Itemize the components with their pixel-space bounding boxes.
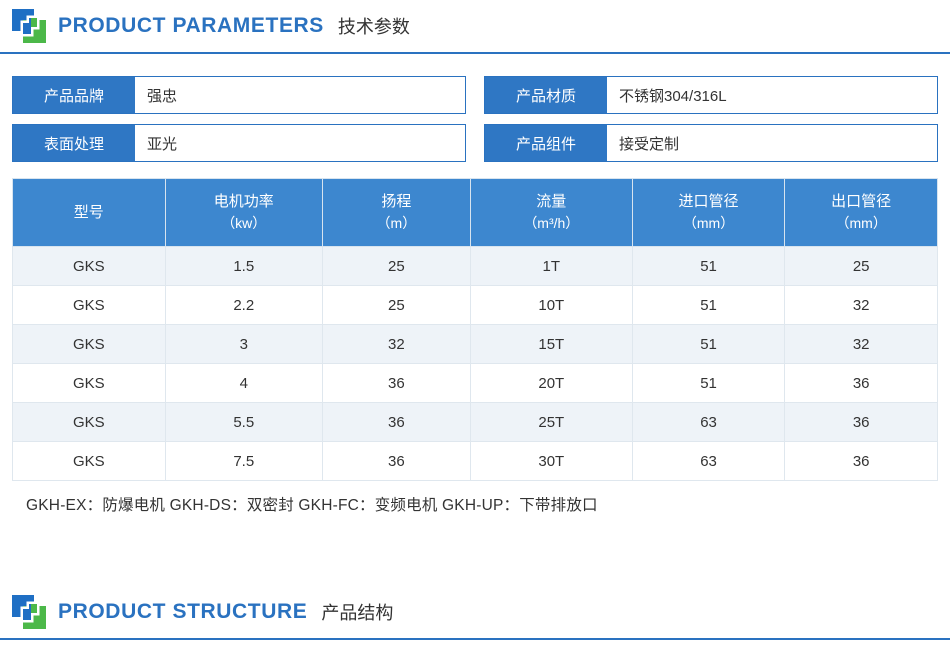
header-name: 电机功率 xyxy=(214,193,274,210)
table-cell: 4 xyxy=(165,364,322,403)
table-cell: 36 xyxy=(785,364,938,403)
table-cell: GKS xyxy=(13,364,166,403)
table-row: GKS 3 32 15T 51 32 xyxy=(13,325,938,364)
header-name: 扬程 xyxy=(381,193,411,210)
table-cell: 51 xyxy=(632,247,785,286)
table-row: GKS 1.5 25 1T 51 25 xyxy=(13,247,938,286)
table-cell: 2.2 xyxy=(165,286,322,325)
table-cell: GKS xyxy=(13,325,166,364)
spec-cell-material: 产品材质 不锈钢304/316L xyxy=(484,76,938,114)
table-cell: 30T xyxy=(470,442,632,481)
table-cell: 51 xyxy=(632,286,785,325)
table-cell: 36 xyxy=(322,403,470,442)
parameters-table: 型号 电机功率 （kw） 扬程 （m） 流量 （m³/h） xyxy=(12,178,938,481)
section-divider-structure xyxy=(0,638,950,640)
section-divider-parameters xyxy=(0,52,950,54)
table-cell: GKS xyxy=(13,442,166,481)
table-cell: GKS xyxy=(13,286,166,325)
table-cell: 63 xyxy=(632,442,785,481)
table-cell: 5.5 xyxy=(165,403,322,442)
section-structure: PRODUCT STRUCTURE 产品结构 xyxy=(0,586,950,640)
table-header-cell: 进口管径 （mm） xyxy=(632,179,785,247)
spec-value: 亚光 xyxy=(135,125,465,161)
spec-value: 不锈钢304/316L xyxy=(607,77,937,113)
table-cell: 51 xyxy=(632,325,785,364)
table-cell: 25 xyxy=(322,286,470,325)
table-cell: 25 xyxy=(785,247,938,286)
table-cell: 36 xyxy=(785,403,938,442)
parameters-table-wrap: 型号 电机功率 （kw） 扬程 （m） 流量 （m³/h） xyxy=(0,178,950,515)
table-header-cell: 电机功率 （kw） xyxy=(165,179,322,247)
table-cell: 7.5 xyxy=(165,442,322,481)
table-cell: 3 xyxy=(165,325,322,364)
section-title-cn-parameters: 技术参数 xyxy=(338,13,410,39)
spec-cell-surface: 表面处理 亚光 xyxy=(12,124,466,162)
table-header-row: 型号 电机功率 （kw） 扬程 （m） 流量 （m³/h） xyxy=(13,179,938,247)
header-name: 出口管径 xyxy=(831,193,891,210)
spec-key: 产品品牌 xyxy=(13,77,135,113)
table-row: GKS 2.2 25 10T 51 32 xyxy=(13,286,938,325)
header-unit: （m） xyxy=(324,213,469,233)
table-cell: 1T xyxy=(470,247,632,286)
table-cell: 36 xyxy=(322,442,470,481)
table-header-cell: 出口管径 （mm） xyxy=(785,179,938,247)
table-cell: 20T xyxy=(470,364,632,403)
header-unit: （kw） xyxy=(167,213,321,233)
table-cell: 25 xyxy=(322,247,470,286)
table-cell: 32 xyxy=(785,286,938,325)
table-header-cell: 流量 （m³/h） xyxy=(470,179,632,247)
header-unit: （mm） xyxy=(786,213,936,233)
spec-cell-brand: 产品品牌 强忠 xyxy=(12,76,466,114)
spec-row: 表面处理 亚光 产品组件 接受定制 xyxy=(12,124,938,162)
spec-key: 产品材质 xyxy=(485,77,607,113)
header-name: 进口管径 xyxy=(679,193,739,210)
table-header-cell: 型号 xyxy=(13,179,166,247)
product-parameters-page: PRODUCT PARAMETERS 技术参数 产品品牌 强忠 产品材质 不锈钢… xyxy=(0,0,950,648)
table-cell: 10T xyxy=(470,286,632,325)
table-cell: GKS xyxy=(13,403,166,442)
spec-value: 接受定制 xyxy=(607,125,937,161)
spec-value: 强忠 xyxy=(135,77,465,113)
section-header-structure: PRODUCT STRUCTURE 产品结构 xyxy=(0,586,950,638)
table-row: GKS 5.5 36 25T 63 36 xyxy=(13,403,938,442)
table-row: GKS 7.5 36 30T 63 36 xyxy=(13,442,938,481)
header-name: 型号 xyxy=(74,204,104,221)
table-cell: 32 xyxy=(322,325,470,364)
table-cell: 15T xyxy=(470,325,632,364)
header-name: 流量 xyxy=(536,193,566,210)
table-cell: 32 xyxy=(785,325,938,364)
logo-arrow-icon xyxy=(12,595,46,629)
section-title-en-parameters: PRODUCT PARAMETERS xyxy=(58,14,324,38)
table-cell: 1.5 xyxy=(165,247,322,286)
spec-block: 产品品牌 强忠 产品材质 不锈钢304/316L 表面处理 亚光 产品组件 接受… xyxy=(0,76,950,162)
header-unit: （mm） xyxy=(634,213,784,233)
spec-cell-components: 产品组件 接受定制 xyxy=(484,124,938,162)
table-cell: 51 xyxy=(632,364,785,403)
section-title-cn-structure: 产品结构 xyxy=(321,599,393,625)
section-header-parameters: PRODUCT PARAMETERS 技术参数 xyxy=(0,0,950,52)
spec-row: 产品品牌 强忠 产品材质 不锈钢304/316L xyxy=(12,76,938,114)
header-unit: （m³/h） xyxy=(472,213,631,233)
table-cell: GKS xyxy=(13,247,166,286)
table-cell: 25T xyxy=(470,403,632,442)
table-header-cell: 扬程 （m） xyxy=(322,179,470,247)
table-cell: 63 xyxy=(632,403,785,442)
table-cell: 36 xyxy=(322,364,470,403)
logo-arrow-icon xyxy=(12,9,46,43)
section-title-en-structure: PRODUCT STRUCTURE xyxy=(58,600,307,624)
table-cell: 36 xyxy=(785,442,938,481)
spec-key: 表面处理 xyxy=(13,125,135,161)
table-row: GKS 4 36 20T 51 36 xyxy=(13,364,938,403)
spec-key: 产品组件 xyxy=(485,125,607,161)
table-footnote: GKH-EX：防爆电机 GKH-DS：双密封 GKH-FC：变频电机 GKH-U… xyxy=(12,481,938,515)
